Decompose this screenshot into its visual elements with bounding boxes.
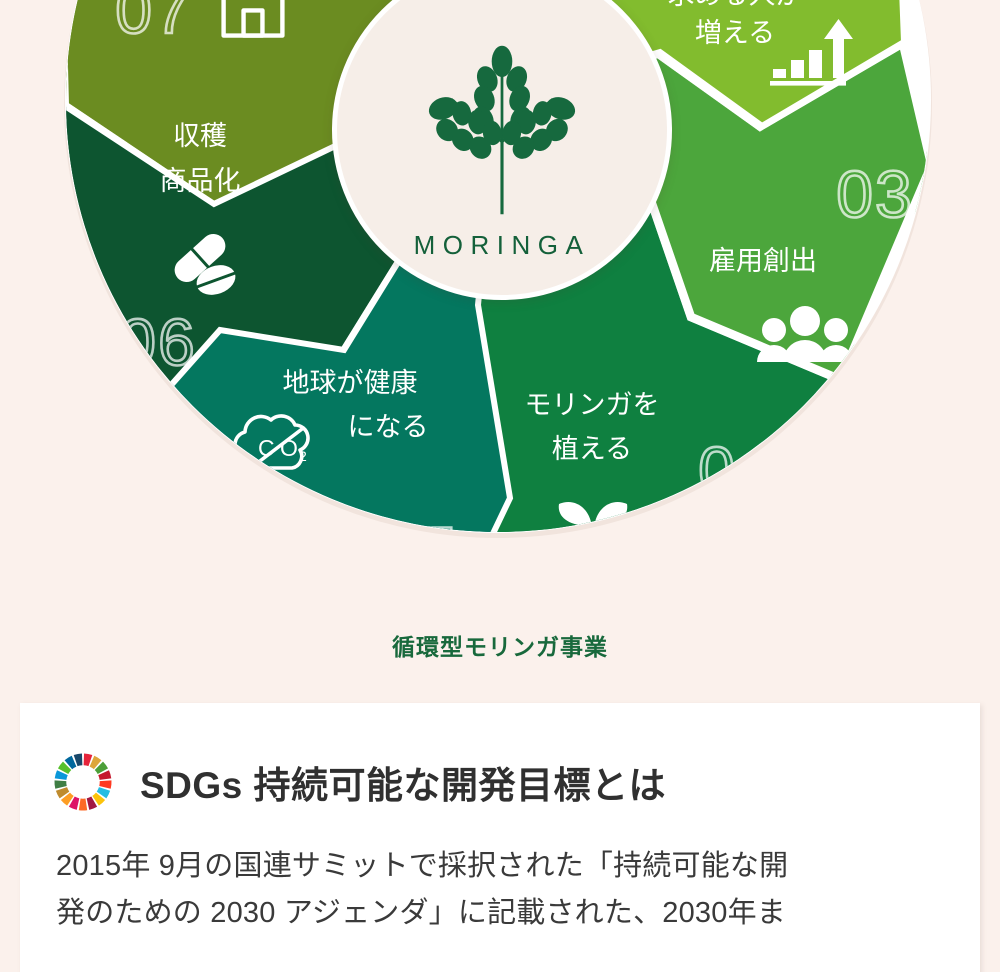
sdg-card-title: SDGs 持続可能な開発目標とは: [140, 755, 666, 809]
segment-03-label-line1: 雇用創出: [709, 246, 817, 276]
svg-text:2: 2: [299, 448, 307, 464]
sdg-wheel-segment: [79, 799, 87, 811]
sdg-body-line-2: 発のための 2030 アジェンダ」に記載された、2030年ま: [56, 890, 980, 937]
segment-07-number: 07: [115, 0, 192, 47]
segment-05-label-line1: 地球が健康: [283, 368, 418, 398]
sdg-card-body: 2015年 9月の国連サミットで採択された「持続可能な開 発のための 2030 …: [56, 843, 980, 937]
segment-02-label-line1: 求める人が: [668, 0, 803, 10]
sdg-card-header: SDGs 持続可能な開発目標とは: [20, 703, 980, 813]
segment-06-label-line2: 商品化: [160, 166, 241, 196]
sdg-wheel-segment: [54, 780, 66, 788]
sdg-color-wheel-icon: [52, 751, 114, 813]
sdg-wheel-segment: [99, 780, 111, 788]
moringa-leaf-icon: [404, 32, 600, 228]
segment-04-label-line1: モリンガを: [525, 390, 660, 420]
segment-06-label-line1: 収穫: [173, 121, 227, 151]
moringa-wordmark: MORINGA: [414, 230, 591, 261]
segment-05-label-line2: になる: [348, 412, 429, 442]
wheel-caption: 循環型モリンガ事業: [0, 628, 1000, 662]
circular-business-diagram: 07 収穫 商品化 06: [0, 0, 1000, 700]
segment-04-label-line2: 植える: [552, 434, 632, 464]
sdg-info-card: SDGs 持続可能な開発目標とは 2015年 9月の国連サミットで採択された「持…: [20, 703, 980, 972]
segment-03-number: 03: [836, 157, 913, 231]
segment-02-label-line2: 増える: [695, 18, 775, 48]
sdg-body-line-1: 2015年 9月の国連サミットで採択された「持続可能な開: [56, 843, 980, 890]
